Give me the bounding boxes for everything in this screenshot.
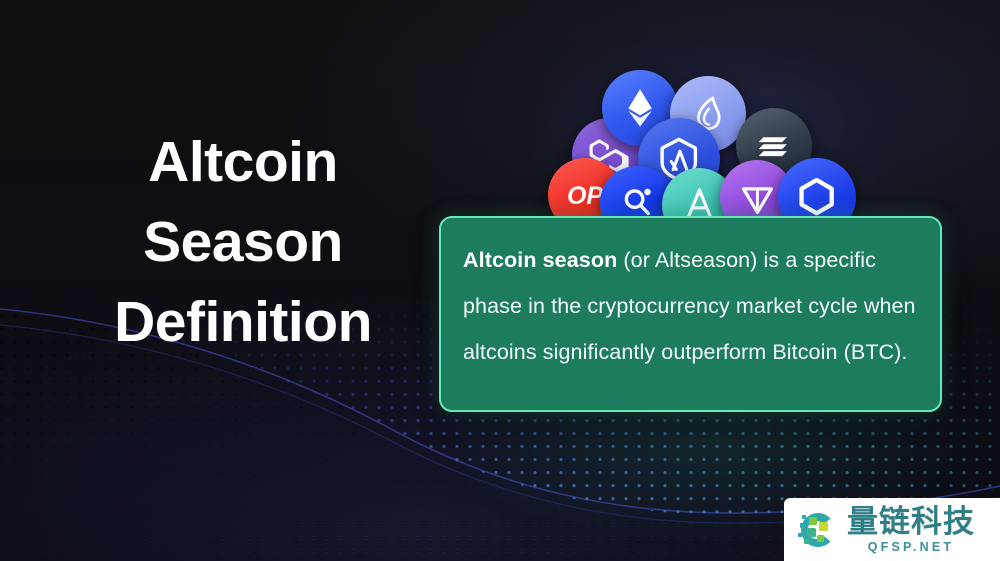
altcoin-logo-cluster: OP [540,62,840,237]
title-line-3: Definition [78,282,408,362]
definition-lead: Altcoin season [463,248,617,272]
chainlink-icon [794,174,839,219]
title-line-1: Altcoin [78,122,408,202]
ton-icon [736,176,779,219]
watermark-brand-en: QFSP.NET [847,541,975,554]
definition-card: Altcoin season (or Altseason) is a speci… [439,216,942,412]
op-text: OP [567,182,603,211]
watermark-brand-cn: 量链科技 [847,506,975,537]
watermark: 量链科技 QFSP.NET [784,498,1000,561]
definition-text: Altcoin season (or Altseason) is a speci… [463,237,916,375]
slide-canvas: Altcoin Season Definition [0,0,1000,561]
ethereum-icon [618,86,662,130]
network-nodes-icon [792,506,840,554]
watermark-text: 量链科技 QFSP.NET [847,506,975,554]
title-line-2: Season [78,202,408,282]
page-title: Altcoin Season Definition [78,122,408,362]
